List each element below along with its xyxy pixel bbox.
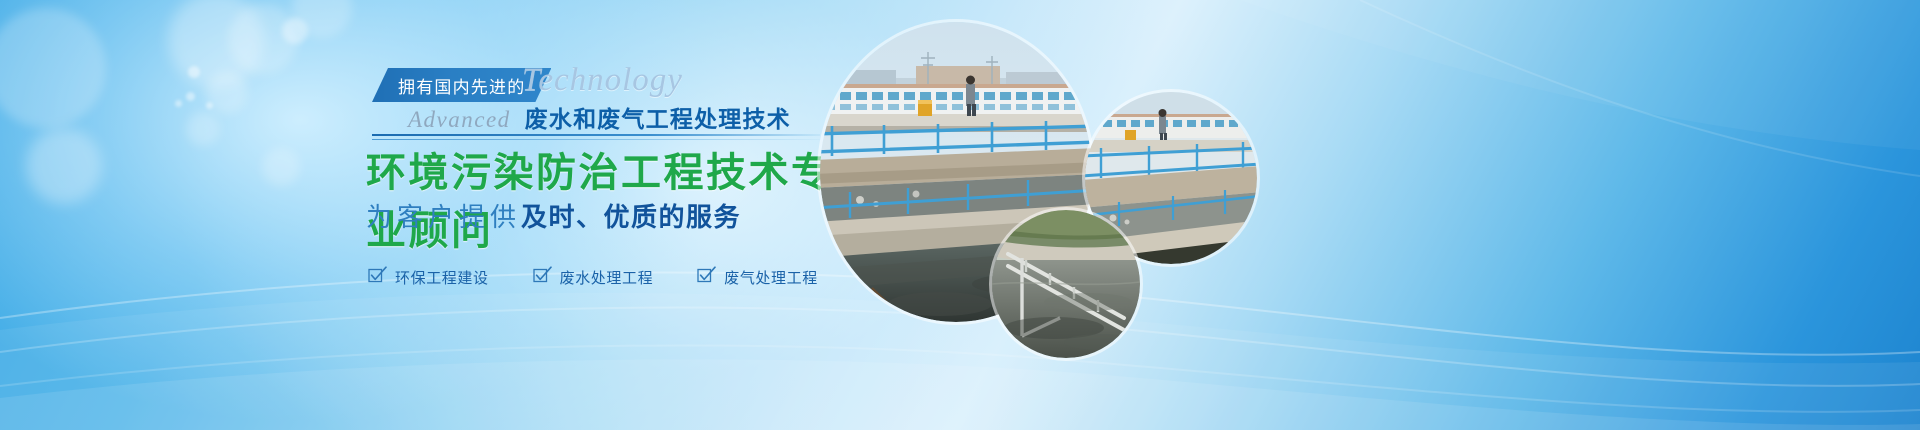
feature-item-0: 环保工程建设 xyxy=(368,266,489,288)
subtitle-row: Advanced 废水和废气工程处理技术 xyxy=(408,100,791,134)
divider-line-top xyxy=(372,134,820,136)
photo-circle-small xyxy=(992,210,1140,358)
subtitle-chinese: 废水和废气工程处理技术 xyxy=(525,100,791,134)
check-box-icon xyxy=(368,266,387,288)
check-box-icon xyxy=(533,266,552,288)
feature-label: 废水处理工程 xyxy=(560,267,654,288)
banner-text-block: 拥有国内先进的 Technology Advanced 废水和废气工程处理技术 … xyxy=(0,0,860,430)
feature-list: 环保工程建设 废水处理工程 废气处理工程 xyxy=(368,266,818,288)
feature-label: 环保工程建设 xyxy=(395,267,489,288)
feature-label: 废气处理工程 xyxy=(724,267,818,288)
advanced-script-text: Advanced xyxy=(408,107,511,133)
promo-banner: 拥有国内先进的 Technology Advanced 废水和废气工程处理技术 … xyxy=(0,0,1920,430)
tagline-row: 为客户提供 及时、优质的服务 xyxy=(366,197,741,234)
feature-item-1: 废水处理工程 xyxy=(533,266,654,288)
feature-item-2: 废气处理工程 xyxy=(697,266,818,288)
check-box-icon xyxy=(697,266,716,288)
tagline-light: 为客户提供 xyxy=(366,197,521,234)
technology-script-text: Technology xyxy=(522,62,683,99)
tagline-bold: 及时、优质的服务 xyxy=(521,197,741,234)
